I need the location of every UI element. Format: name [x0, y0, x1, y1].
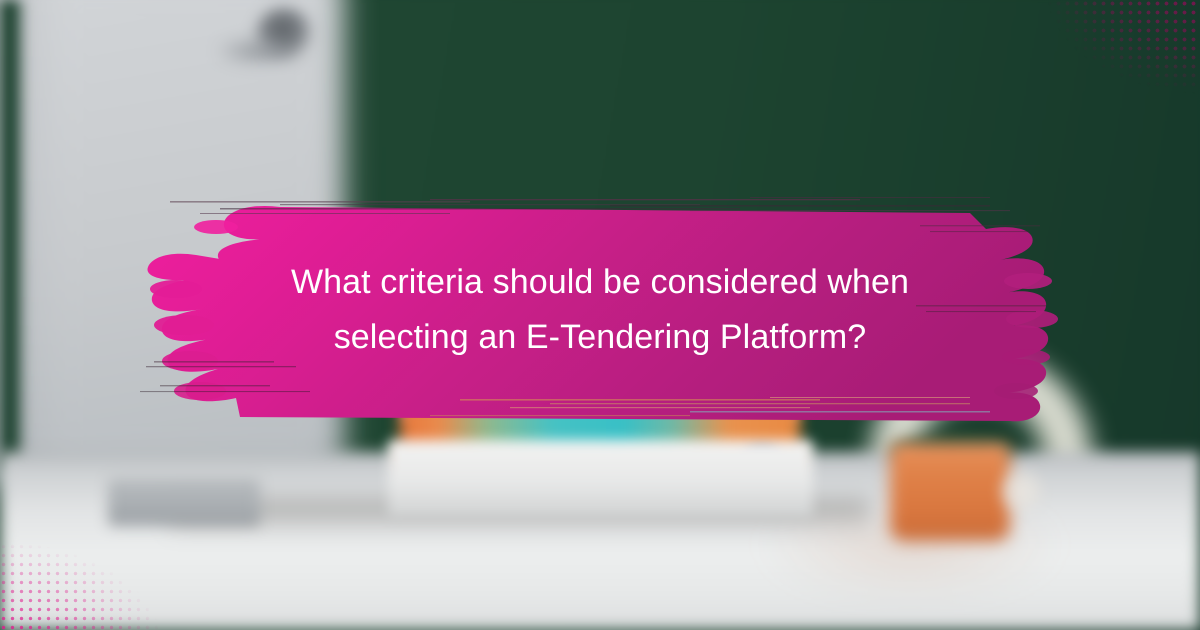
brush-banner: What criteria should be considered when …	[130, 185, 1070, 435]
whiteboard-smudge-secondary	[218, 38, 302, 64]
mug-handle	[1000, 470, 1042, 512]
desk-object	[108, 478, 260, 526]
social-card-canvas: What criteria should be considered when …	[0, 0, 1200, 630]
left-wall-edge	[0, 0, 26, 470]
headline-line-2: selecting an E-Tendering Platform?	[334, 318, 867, 357]
coffee-mug	[890, 443, 1010, 541]
headline-line-1: What criteria should be considered when	[291, 263, 909, 302]
page-title: What criteria should be considered when …	[130, 185, 1070, 435]
laptop-base	[388, 440, 813, 518]
